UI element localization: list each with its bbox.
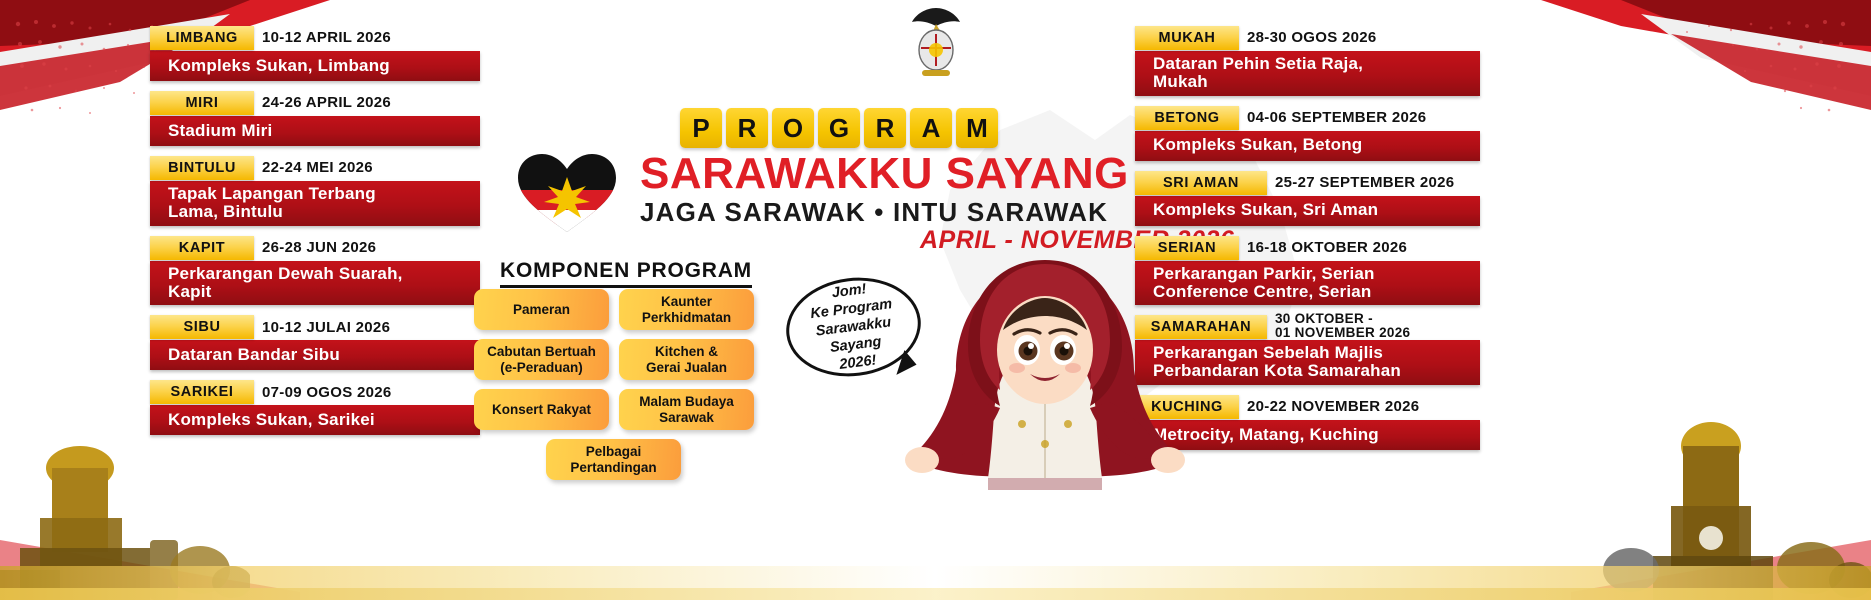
event-card-sibu[interactable]: SIBU 10-12 JULAI 2026 Dataran Bandar Sib… xyxy=(150,315,480,370)
komponen-section-title: KOMPONEN PROGRAM xyxy=(500,259,752,288)
program-tile-4: R xyxy=(864,108,906,148)
program-tile-5: A xyxy=(910,108,952,148)
city-tag: SARIKEI xyxy=(150,380,254,404)
event-card-sri-aman[interactable]: SRI AMAN 25-27 SEPTEMBER 2026 Kompleks S… xyxy=(1135,171,1480,226)
event-date: 10-12 APRIL 2026 xyxy=(262,30,391,46)
komponen-item-kaunter-perkhidmatan[interactable]: Kaunter Perkhidmatan xyxy=(619,289,754,330)
event-date: 20-22 NOVEMBER 2026 xyxy=(1247,399,1419,415)
event-card-miri[interactable]: MIRI 24-26 APRIL 2026 Stadium Miri xyxy=(150,91,480,146)
event-head: MUKAH 28-30 OGOS 2026 xyxy=(1135,26,1480,50)
event-venue: Kompleks Sukan, Limbang xyxy=(150,51,480,81)
event-date: 04-06 SEPTEMBER 2026 xyxy=(1247,110,1426,126)
komponen-grid: Pameran Kaunter Perkhidmatan Cabutan Ber… xyxy=(474,289,774,489)
event-date: 26-28 JUN 2026 xyxy=(262,240,376,256)
city-tag: MUKAH xyxy=(1135,26,1239,50)
komponen-item-cabutan-bertuah[interactable]: Cabutan Bertuah (e-Peraduan) xyxy=(474,339,609,380)
event-card-limbang[interactable]: LIMBANG 10-12 APRIL 2026 Kompleks Sukan,… xyxy=(150,26,480,81)
bottom-gold-band-inner xyxy=(0,588,1871,600)
event-date: 28-30 OGOS 2026 xyxy=(1247,30,1377,46)
page-subtitle: JAGA SARAWAK • INTU SARAWAK xyxy=(640,197,1108,228)
komponen-item-konsert-rakyat[interactable]: Konsert Rakyat xyxy=(474,389,609,430)
komponen-item-pelbagai-pertandingan[interactable]: Pelbagai Pertandingan xyxy=(546,439,681,480)
event-date: 16-18 OKTOBER 2026 xyxy=(1247,240,1407,256)
event-card-mukah[interactable]: MUKAH 28-30 OGOS 2026 Dataran Pehin Seti… xyxy=(1135,26,1480,96)
event-head: SRI AMAN 25-27 SEPTEMBER 2026 xyxy=(1135,171,1480,195)
komponen-row: Pelbagai Pertandingan xyxy=(474,439,774,480)
event-date: 10-12 JULAI 2026 xyxy=(262,320,390,336)
event-head: BINTULU 22-24 MEI 2026 xyxy=(150,156,480,180)
banner-stage: P R O G R A M SARAWAKKU SAYANG JAGA SARA… xyxy=(0,0,1871,600)
hijab-mascot-character-icon xyxy=(860,238,1230,500)
komponen-item-kitchen-gerai-jualan[interactable]: Kitchen & Gerai Jualan xyxy=(619,339,754,380)
event-card-bintulu[interactable]: BINTULU 22-24 MEI 2026 Tapak Lapangan Te… xyxy=(150,156,480,226)
program-word-tiles: P R O G R A M xyxy=(680,108,998,148)
event-venue: Kompleks Sukan, Sarikei xyxy=(150,405,480,435)
city-tag: LIMBANG xyxy=(150,26,254,50)
program-tile-6: M xyxy=(956,108,998,148)
event-date: 07-09 OGOS 2026 xyxy=(262,385,392,401)
event-venue: Kompleks Sukan, Sri Aman xyxy=(1135,196,1480,226)
city-tag: BINTULU xyxy=(150,156,254,180)
event-head: LIMBANG 10-12 APRIL 2026 xyxy=(150,26,480,50)
corner-ribbon-top-right xyxy=(1541,0,1871,150)
city-tag: KAPIT xyxy=(150,236,254,260)
event-venue: Stadium Miri xyxy=(150,116,480,146)
event-date: 25-27 SEPTEMBER 2026 xyxy=(1275,175,1454,191)
city-tag: BETONG xyxy=(1135,106,1239,130)
event-card-sarikei[interactable]: SARIKEI 07-09 OGOS 2026 Kompleks Sukan, … xyxy=(150,380,480,435)
event-head: KAPIT 26-28 JUN 2026 xyxy=(150,236,480,260)
program-tile-1: R xyxy=(726,108,768,148)
city-tag: SRI AMAN xyxy=(1135,171,1267,195)
program-tile-3: G xyxy=(818,108,860,148)
event-venue: Perkarangan Dewah Suarah, Kapit xyxy=(150,261,480,306)
event-head: MIRI 24-26 APRIL 2026 xyxy=(150,91,480,115)
komponen-row: Pameran Kaunter Perkhidmatan xyxy=(474,289,774,330)
event-list-left: LIMBANG 10-12 APRIL 2026 Kompleks Sukan,… xyxy=(150,26,480,445)
city-tag: SIBU xyxy=(150,315,254,339)
event-card-kapit[interactable]: KAPIT 26-28 JUN 2026 Perkarangan Dewah S… xyxy=(150,236,480,306)
event-date: 22-24 MEI 2026 xyxy=(262,160,373,176)
komponen-item-pameran[interactable]: Pameran xyxy=(474,289,609,330)
program-tile-2: O xyxy=(772,108,814,148)
program-tile-0: P xyxy=(680,108,722,148)
event-head: SARIKEI 07-09 OGOS 2026 xyxy=(150,380,480,404)
event-venue: Kompleks Sukan, Betong xyxy=(1135,131,1480,161)
event-head: SIBU 10-12 JULAI 2026 xyxy=(150,315,480,339)
halftone-dots-right xyxy=(1661,14,1861,134)
sarawak-flag-heart-logo-icon xyxy=(512,150,622,235)
event-date: 30 OKTOBER - 01 NOVEMBER 2026 xyxy=(1275,312,1410,340)
city-tag: MIRI xyxy=(150,91,254,115)
event-venue: Tapak Lapangan Terbang Lama, Bintulu xyxy=(150,181,480,226)
page-title: SARAWAKKU SAYANG xyxy=(640,152,1129,196)
event-venue: Dataran Bandar Sibu xyxy=(150,340,480,370)
event-card-betong[interactable]: BETONG 04-06 SEPTEMBER 2026 Kompleks Suk… xyxy=(1135,106,1480,161)
event-venue: Dataran Pehin Setia Raja, Mukah xyxy=(1135,51,1480,96)
komponen-row: Konsert Rakyat Malam Budaya Sarawak xyxy=(474,389,774,430)
event-head: BETONG 04-06 SEPTEMBER 2026 xyxy=(1135,106,1480,130)
event-date: 24-26 APRIL 2026 xyxy=(262,95,391,111)
sarawak-state-crest-icon xyxy=(908,4,964,80)
komponen-row: Cabutan Bertuah (e-Peraduan) Kitchen & G… xyxy=(474,339,774,380)
komponen-item-malam-budaya-sarawak[interactable]: Malam Budaya Sarawak xyxy=(619,389,754,430)
